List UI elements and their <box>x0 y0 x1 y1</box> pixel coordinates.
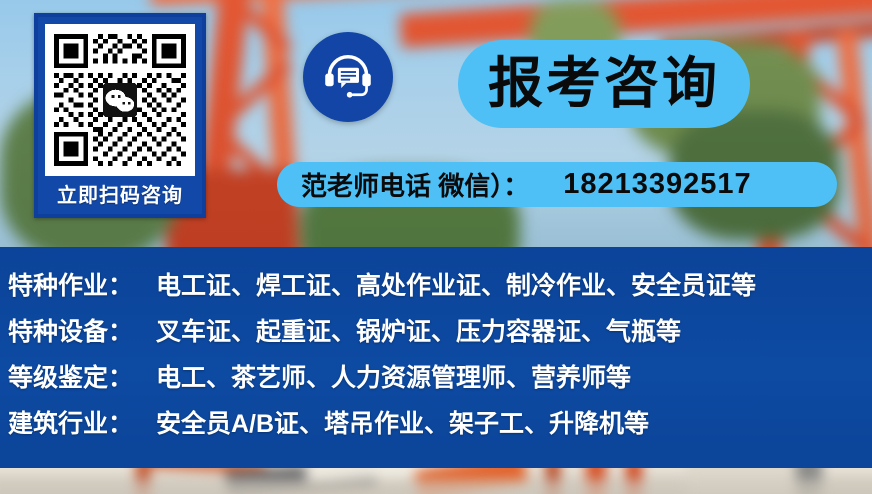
qr-card[interactable]: 立即扫码咨询 <box>34 13 206 218</box>
category-row: 特种设备： 叉车证、起重证、锅炉证、压力容器证、气瓶等 <box>8 317 681 347</box>
title-pill: 报考咨询 <box>458 40 750 128</box>
category-row: 等级鉴定： 电工、茶艺师、人力资源管理师、营养师等 <box>8 363 631 393</box>
qr-code-icon[interactable] <box>45 24 195 176</box>
headset-support-badge <box>303 32 393 122</box>
title-pill-text: 报考咨询 <box>488 52 720 114</box>
category-key: 等级鉴定： <box>8 363 156 393</box>
category-row: 特种作业： 电工证、焊工证、高处作业证、制冷作业、安全员证等 <box>8 271 756 301</box>
phone-label: 范老师电话 微信）： <box>301 166 529 203</box>
category-key: 特种作业： <box>8 271 156 301</box>
category-value: 电工、茶艺师、人力资源管理师、营养师等 <box>156 363 631 393</box>
headset-support-icon <box>321 50 375 104</box>
qr-code-svg <box>49 29 191 171</box>
category-key: 建筑行业： <box>8 409 156 439</box>
category-key: 特种设备： <box>8 317 156 347</box>
promo-poster: 立即扫码咨询 报考咨询 范老师电话 微信）： 18213392517 特种作业：… <box>0 0 872 494</box>
wechat-icon <box>103 83 137 117</box>
footer-photo-strip <box>0 468 872 494</box>
qr-card-label: 立即扫码咨询 <box>38 183 202 209</box>
footer-photo-blur <box>0 468 872 494</box>
category-value: 叉车证、起重证、锅炉证、压力容器证、气瓶等 <box>156 317 681 347</box>
category-list: 特种作业： 电工证、焊工证、高处作业证、制冷作业、安全员证等 特种设备： 叉车证… <box>0 247 872 468</box>
category-value: 电工证、焊工证、高处作业证、制冷作业、安全员证等 <box>156 271 756 301</box>
phone-pill[interactable]: 范老师电话 微信）： 18213392517 <box>277 162 837 207</box>
category-row: 建筑行业： 安全员A/B证、塔吊作业、架子工、升降机等 <box>8 409 649 439</box>
phone-number[interactable]: 18213392517 <box>563 168 751 201</box>
category-value: 安全员A/B证、塔吊作业、架子工、升降机等 <box>156 409 649 439</box>
